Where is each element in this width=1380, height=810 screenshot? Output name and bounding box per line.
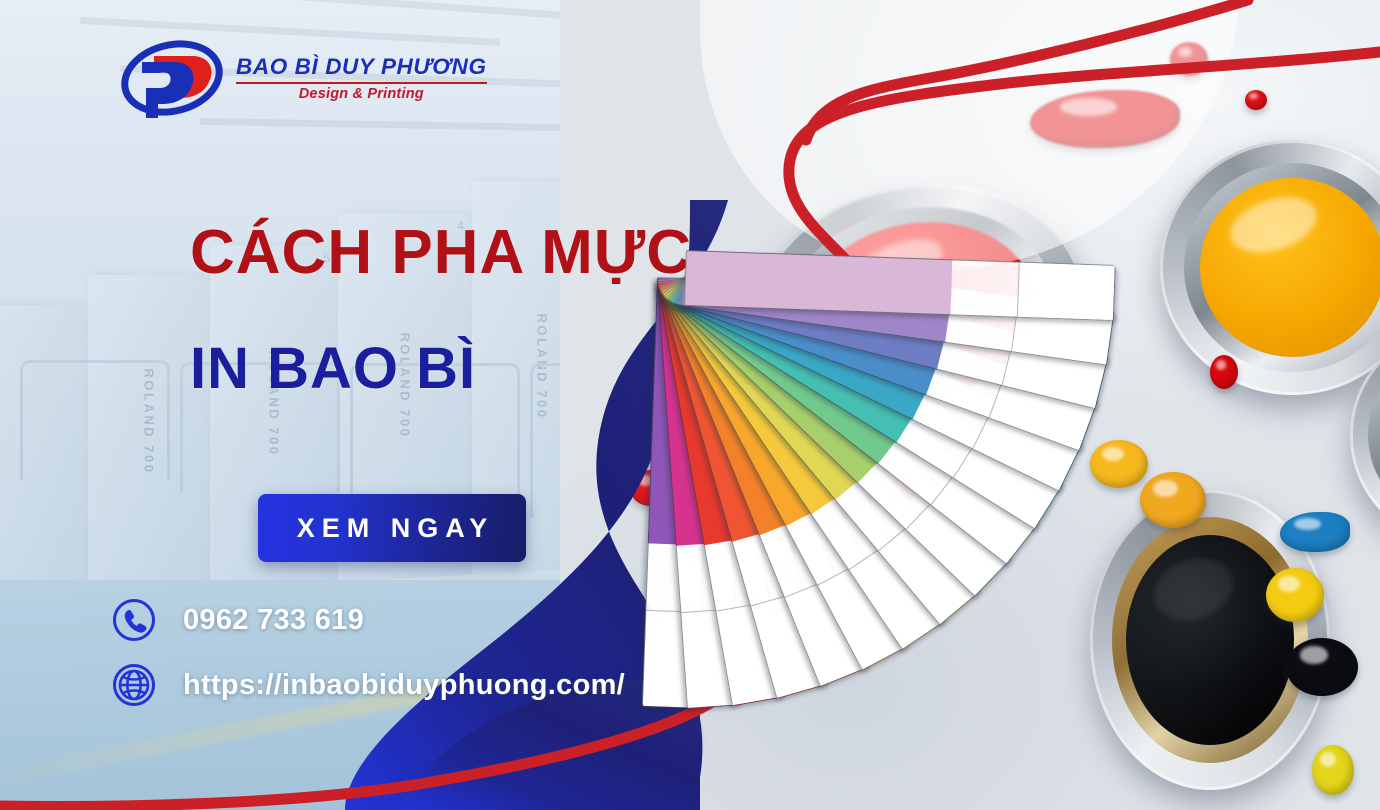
headline-primary: CÁCH PHA MỰC xyxy=(190,222,692,284)
headline-secondary: IN BAO BÌ xyxy=(190,340,476,398)
can-rim xyxy=(1090,490,1330,790)
website-url: https://inbaobiduyphuong.com/ xyxy=(183,669,625,702)
contact-block: 0962 733 619 https://inbaobiduyphuong.co… xyxy=(112,598,625,707)
contact-phone-row[interactable]: 0962 733 619 xyxy=(112,598,625,642)
gloss-highlight xyxy=(1146,549,1241,630)
phone-icon xyxy=(112,598,156,642)
contact-website-row[interactable]: https://inbaobiduyphuong.com/ xyxy=(112,663,625,707)
red-blob xyxy=(1210,355,1238,389)
cyan-paint-can xyxy=(1350,330,1380,540)
yellow-paint-can xyxy=(1160,140,1380,395)
yellow-blob xyxy=(1266,568,1324,622)
phone-number: 0962 733 619 xyxy=(183,604,364,637)
logo-tagline: Design & Printing xyxy=(236,86,487,102)
logo-divider xyxy=(236,82,487,84)
dp-monogram-icon xyxy=(120,36,228,122)
black-blob xyxy=(648,710,700,758)
can-inner-rim xyxy=(1368,349,1380,521)
promotional-banner: ROLAND 700 5 ROLAND 700 4 ROLAND 700 3 R… xyxy=(0,0,1380,810)
can-inner-rim xyxy=(1184,163,1380,372)
blue-blob xyxy=(1280,512,1350,552)
can-rim xyxy=(1350,330,1380,540)
gloss-highlight xyxy=(1224,187,1324,262)
black-blob xyxy=(1286,638,1358,696)
logo-company-name: BAO BÌ DUY PHƯƠNG xyxy=(236,54,487,80)
fan-blade-shade xyxy=(953,260,1015,316)
yellow-blob xyxy=(1140,472,1206,528)
xem-ngay-button[interactable]: XEM NGAY xyxy=(258,494,526,562)
yellow-blob xyxy=(1312,745,1354,795)
can-paint-surface xyxy=(1200,178,1380,357)
red-blob xyxy=(1245,90,1267,110)
can-inner-rim xyxy=(1112,517,1309,763)
fan-blade-tab xyxy=(1017,263,1115,320)
black-paint-can xyxy=(1090,490,1330,790)
logo-wordmark: BAO BÌ DUY PHƯƠNG Design & Printing xyxy=(236,54,487,102)
yellow-blob xyxy=(1090,440,1148,488)
can-paint-surface xyxy=(1126,535,1294,745)
can-rim xyxy=(1160,140,1380,395)
globe-icon xyxy=(112,663,156,707)
company-logo[interactable]: BAO BÌ DUY PHƯƠNG Design & Printing xyxy=(120,36,420,122)
color-swatch-fan xyxy=(685,250,1325,810)
